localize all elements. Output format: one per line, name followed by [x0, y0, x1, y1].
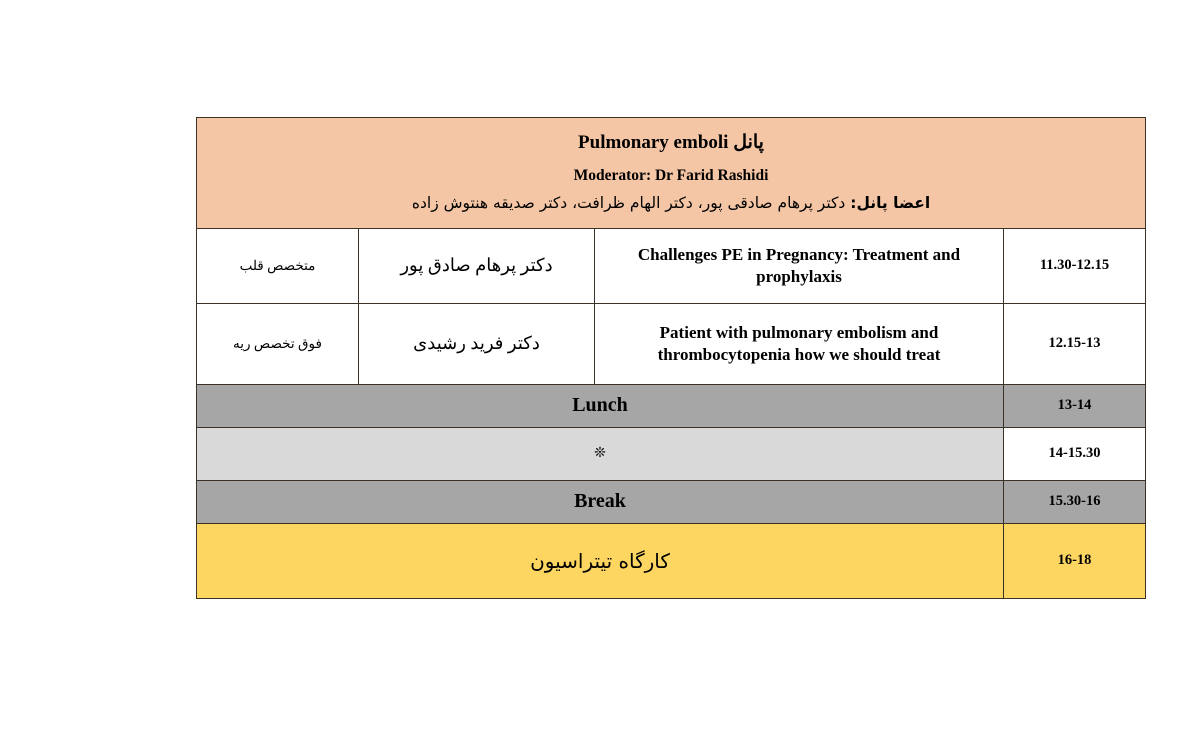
snowflake-asterisk-icon: ❊: [197, 427, 1004, 480]
panel-members-list: دکتر پرهام صادقی پور، دکتر الهام ظرافت، …: [412, 194, 850, 212]
table-row-session-2: فوق تخصص ریه دکتر فرید رشیدی Patient wit…: [197, 303, 1146, 384]
panel-members: اعضا پانل: دکتر پرهام صادقی پور، دکتر ال…: [211, 191, 1131, 216]
workshop-label: کارگاه تیتراسیون: [197, 523, 1004, 598]
session-2-topic: Patient with pulmonary embolism and thro…: [595, 303, 1004, 384]
session-1-specialty: متخصص قلب: [197, 228, 359, 303]
panel-moderator: Moderator: Dr Farid Rashidi: [211, 163, 1131, 188]
conference-schedule-table: پانل Pulmonary emboli Moderator: Dr Fari…: [196, 117, 1146, 599]
table-row-lunch: Lunch 13-14: [197, 384, 1146, 427]
break-label: Break: [197, 480, 1004, 523]
panel-header-cell: پانل Pulmonary emboli Moderator: Dr Fari…: [197, 118, 1146, 229]
session-1-topic: Challenges PE in Pregnancy: Treatment an…: [595, 228, 1004, 303]
lunch-label: Lunch: [197, 384, 1004, 427]
free-slot-time: 14-15.30: [1004, 427, 1146, 480]
panel-header-row: پانل Pulmonary emboli Moderator: Dr Fari…: [197, 118, 1146, 229]
table-row-free-slot: ❊ 14-15.30: [197, 427, 1146, 480]
break-time: 15.30-16: [1004, 480, 1146, 523]
panel-members-label: اعضا پانل:: [850, 194, 930, 212]
panel-title: پانل Pulmonary emboli: [211, 128, 1131, 159]
session-2-specialty: فوق تخصص ریه: [197, 303, 359, 384]
page-canvas: پانل Pulmonary emboli Moderator: Dr Fari…: [0, 0, 1198, 733]
session-2-speaker: دکتر فرید رشیدی: [359, 303, 595, 384]
session-1-time: 11.30-12.15: [1004, 228, 1146, 303]
table-row-workshop: کارگاه تیتراسیون 16-18: [197, 523, 1146, 598]
session-1-speaker: دکتر پرهام صادق پور: [359, 228, 595, 303]
lunch-time: 13-14: [1004, 384, 1146, 427]
table-row-session-1: متخصص قلب دکتر پرهام صادق پور Challenges…: [197, 228, 1146, 303]
session-2-time: 12.15-13: [1004, 303, 1146, 384]
workshop-time: 16-18: [1004, 523, 1146, 598]
table-row-break: Break 15.30-16: [197, 480, 1146, 523]
